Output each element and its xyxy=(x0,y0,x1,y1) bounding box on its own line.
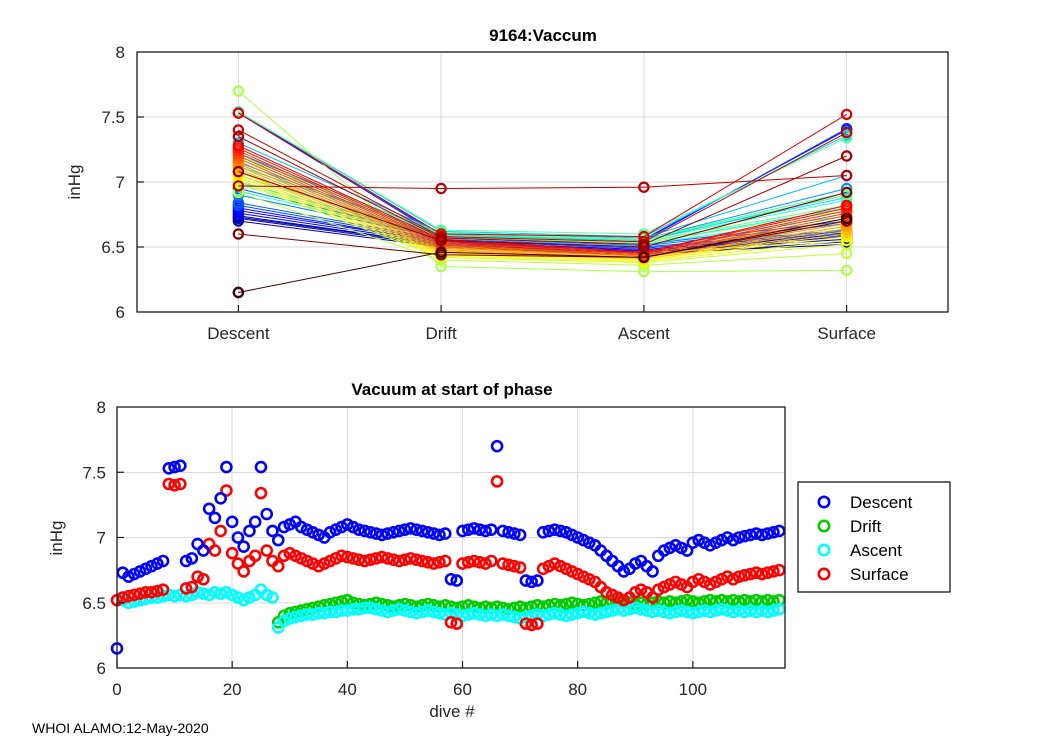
bottom-x-tick: 100 xyxy=(679,680,707,699)
legend-label-drift: Drift xyxy=(850,517,881,536)
top-panel-title: 9164:Vaccum xyxy=(489,26,597,45)
top-category-label-ascent: Ascent xyxy=(618,324,670,343)
bottom-y-tick: 6 xyxy=(97,659,106,678)
legend[interactable]: DescentDriftAscentSurface xyxy=(798,482,950,592)
bottom-x-tick: 80 xyxy=(568,680,587,699)
legend-label-ascent: Ascent xyxy=(850,541,902,560)
top-y-axis-label: inHg xyxy=(65,165,84,200)
top-category-label-surface: Surface xyxy=(817,324,876,343)
legend-label-descent: Descent xyxy=(850,493,913,512)
top-y-tick: 6.5 xyxy=(101,238,125,257)
bottom-x-tick: 60 xyxy=(453,680,472,699)
top-y-tick: 7 xyxy=(116,173,125,192)
top-panel-axes: 9164:Vaccum 66.577.58 DescentDriftAscent… xyxy=(0,0,1050,360)
top-category-label-drift: Drift xyxy=(426,324,457,343)
legend-label-surface: Surface xyxy=(850,565,909,584)
top-y-tick: 7.5 xyxy=(101,108,125,127)
top-series-group xyxy=(234,86,851,297)
bottom-x-tick: 40 xyxy=(338,680,357,699)
bottom-series-group xyxy=(112,441,784,653)
top-y-tick: 6 xyxy=(116,303,125,322)
bottom-y-tick: 6.5 xyxy=(82,594,106,613)
bottom-panel-title: Vacuum at start of phase xyxy=(351,380,552,399)
bottom-x-tick: 20 xyxy=(223,680,242,699)
footer-credit: WHOI ALAMO:12-May-2020 xyxy=(32,720,209,736)
bottom-y-tick: 8 xyxy=(97,398,106,417)
bottom-y-tick: 7 xyxy=(97,529,106,548)
bottom-panel-axes: Vacuum at start of phase 66.577.58 02040… xyxy=(0,360,1050,750)
bottom-y-tick: 7.5 xyxy=(82,463,106,482)
bottom-x-axis-label: dive # xyxy=(429,702,475,721)
top-category-label-descent: Descent xyxy=(207,324,270,343)
bottom-y-tick-labels: 66.577.58 xyxy=(82,398,124,678)
figure-canvas: 9164:Vaccum 66.577.58 DescentDriftAscent… xyxy=(0,0,1050,750)
bottom-gridlines xyxy=(117,407,785,668)
bottom-x-tick-labels: 020406080100 xyxy=(112,661,707,699)
bottom-y-axis-label: inHg xyxy=(47,521,66,556)
top-category-labels: DescentDriftAscentSurface xyxy=(207,305,876,343)
top-y-tick: 8 xyxy=(116,43,125,62)
bottom-x-tick: 0 xyxy=(112,680,121,699)
